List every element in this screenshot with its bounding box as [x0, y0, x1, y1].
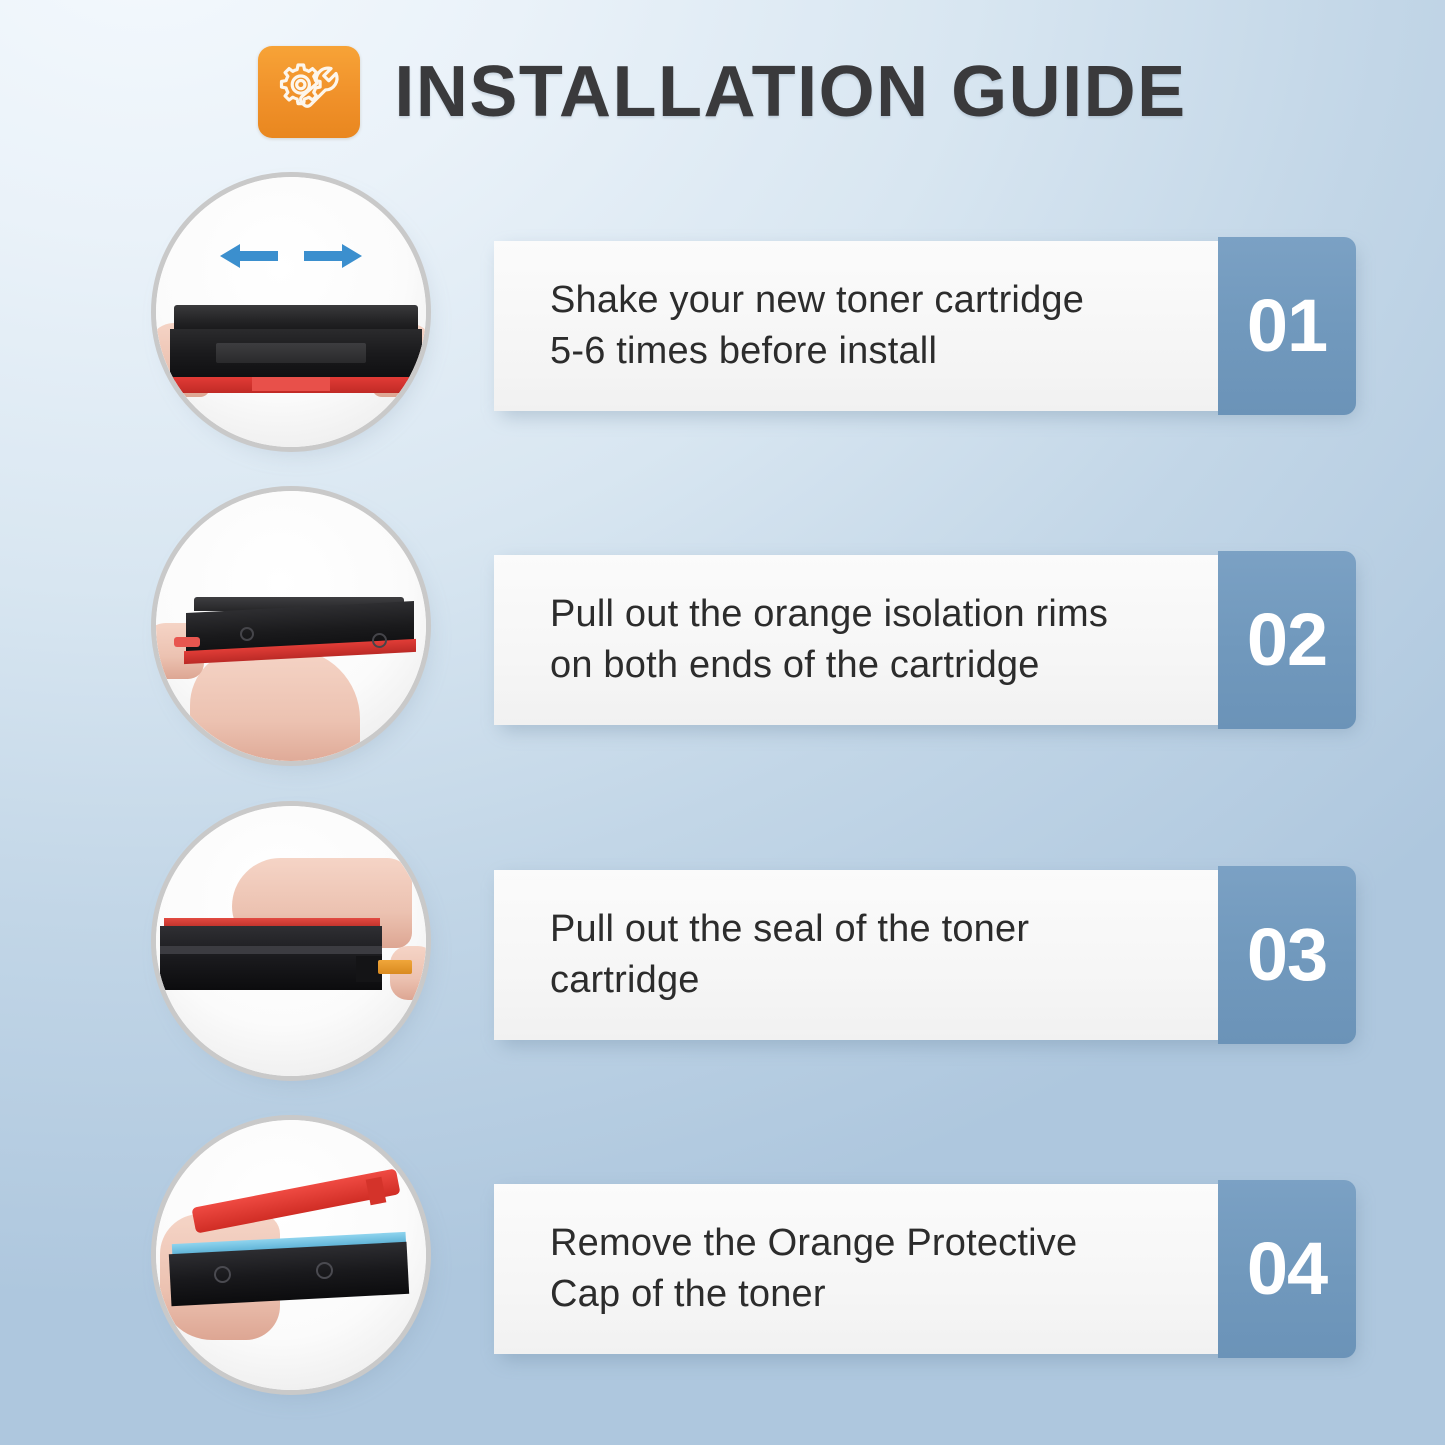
step-number: 02 [1247, 603, 1327, 677]
card-body: Remove the Orange Protective Cap of the … [494, 1184, 1220, 1354]
step-number-badge: 03 [1218, 866, 1356, 1044]
step-text: Pull out the seal of the toner cartridge [550, 904, 1029, 1005]
photo-image-seal [156, 806, 426, 1076]
step-photo-1 [151, 172, 431, 452]
cartridge-hole-1 [240, 627, 254, 641]
photo-circle [151, 801, 431, 1081]
photo-image-cap [156, 1120, 426, 1390]
step-number: 03 [1247, 918, 1327, 992]
step-number-badge: 02 [1218, 551, 1356, 729]
step-card-2: Pull out the orange isolation rims on bo… [494, 551, 1356, 729]
step-photo-4 [151, 1115, 431, 1395]
photo-circle [151, 1115, 431, 1395]
cartridge-hole-2 [316, 1262, 333, 1279]
hand-palm [190, 649, 360, 761]
photo-image-shake [156, 177, 426, 447]
shake-arrows-icon [216, 239, 366, 273]
photo-circle [151, 172, 431, 452]
seal-pull-tab [378, 960, 412, 974]
step-number: 04 [1247, 1232, 1327, 1306]
step-text: Pull out the orange isolation rims on bo… [550, 589, 1108, 690]
step-number-badge: 04 [1218, 1180, 1356, 1358]
cartridge-body [160, 926, 382, 990]
gear-wrench-icon [258, 46, 360, 138]
cartridge-hole-2 [372, 633, 387, 648]
step-card-1: Shake your new toner cartridge 5-6 times… [494, 237, 1356, 415]
cartridge-groove [160, 946, 382, 954]
step-card-3: Pull out the seal of the toner cartridge… [494, 866, 1356, 1044]
installation-guide-infographic: INSTALLATION GUIDE [0, 0, 1445, 1445]
step-text: Shake your new toner cartridge 5-6 times… [550, 275, 1084, 376]
card-body: Shake your new toner cartridge 5-6 times… [494, 241, 1220, 411]
step-photo-2 [151, 486, 431, 766]
step-row-4: Remove the Orange Protective Cap of the … [0, 1103, 1445, 1421]
cartridge-label-strip [216, 343, 366, 363]
step-card-4: Remove the Orange Protective Cap of the … [494, 1180, 1356, 1358]
cartridge-hole-1 [214, 1266, 231, 1283]
photo-circle [151, 486, 431, 766]
cartridge-body [169, 1242, 409, 1306]
cartridge-red-tab [252, 377, 330, 391]
step-row-3: Pull out the seal of the toner cartridge… [0, 789, 1445, 1107]
orange-isolation-rim [174, 637, 200, 647]
step-text: Remove the Orange Protective Cap of the … [550, 1218, 1077, 1319]
header: INSTALLATION GUIDE [0, 42, 1445, 142]
step-row-1: Shake your new toner cartridge 5-6 times… [0, 160, 1445, 478]
step-photo-3 [151, 801, 431, 1081]
card-body: Pull out the orange isolation rims on bo… [494, 555, 1220, 725]
photo-image-rim [156, 491, 426, 761]
step-number: 01 [1247, 289, 1327, 363]
step-row-2: Pull out the orange isolation rims on bo… [0, 474, 1445, 792]
page-title: INSTALLATION GUIDE [394, 56, 1186, 128]
card-body: Pull out the seal of the toner cartridge [494, 870, 1220, 1040]
step-number-badge: 01 [1218, 237, 1356, 415]
